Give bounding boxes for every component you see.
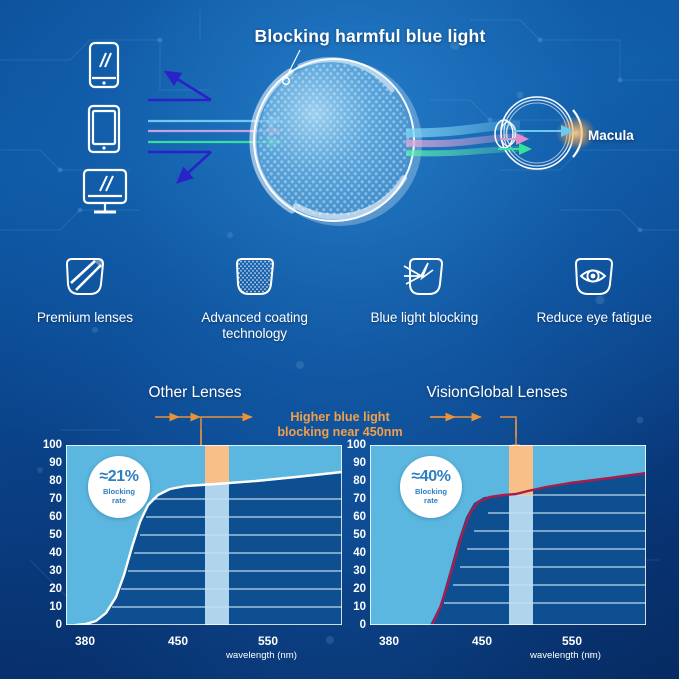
x-tick: 550 [549,634,595,648]
x-axis-caption: wavelength (nm) [530,650,601,661]
blocking-rate-badge-right: ≈40% Blocking rate [400,456,462,518]
y-tick: 60 [342,512,366,524]
feature-label: Advanced coating technology [201,310,307,342]
badge-caption-line2: rate [424,496,438,505]
coating-mesh-icon [232,252,278,302]
badge-caption-line2: rate [112,496,126,505]
x-tick: 380 [366,634,412,648]
feature-label-line2: technology [222,326,287,341]
y-tick: 90 [342,458,366,470]
x-tick: 450 [155,634,201,648]
feature-label: Blue light blocking [371,310,479,326]
y-tick: 100 [38,440,62,452]
x-tick: 450 [459,634,505,648]
feature-blue-light-blocking[interactable]: Blue light blocking [340,252,510,362]
premium-lens-icon [62,252,108,302]
features-row: Premium lenses Advanced coating technolo… [0,252,679,362]
blocking-rate-badge-left: ≈21% Blocking rate [88,456,150,518]
light-path-diagram [0,0,679,250]
y-tick: 30 [342,566,366,578]
y-tick: 20 [38,584,62,596]
y-tick: 100 [342,440,366,452]
y-tick: 80 [38,476,62,488]
badge-caption: Blocking rate [415,488,447,505]
lens-icon [253,50,422,226]
y-tick: 20 [342,584,366,596]
y-tick: 70 [38,494,62,506]
hero-scene: Blocking harmful blue light [0,0,679,250]
feature-advanced-coating[interactable]: Advanced coating technology [170,252,340,362]
y-tick: 70 [342,494,366,506]
y-tick: 10 [38,602,62,614]
feature-label: Premium lenses [37,310,133,326]
y-tick: 40 [38,548,62,560]
feature-premium-lenses[interactable]: Premium lenses [0,252,170,362]
badge-value: ≈21% [99,469,138,485]
macula-label: Macula [588,128,634,143]
badge-value: ≈40% [411,469,450,485]
chart-title-right: VisionGlobal Lenses [372,384,622,402]
badge-caption: Blocking rate [103,488,135,505]
blue-light-block-icon [401,252,447,302]
y-tick: 60 [38,512,62,524]
charts-section: Other Lenses VisionGlobal Lenses Higher … [0,372,679,679]
y-tick: 30 [38,566,62,578]
x-tick: 550 [245,634,291,648]
y-tick: 0 [342,620,366,632]
feature-label-line1: Advanced coating [201,310,307,325]
x-tick: 380 [62,634,108,648]
y-tick: 0 [38,620,62,632]
y-tick: 50 [38,530,62,542]
infographic-page: Blocking harmful blue light [0,0,679,679]
blocked-light-arrows [148,72,211,182]
y-tick: 40 [342,548,366,560]
y-tick: 80 [342,476,366,488]
feature-label: Reduce eye fatigue [536,310,651,326]
x-axis-caption: wavelength (nm) [226,650,297,661]
y-tick: 90 [38,458,62,470]
eye-fatigue-icon [571,252,617,302]
y-tick: 50 [342,530,366,542]
feature-reduce-eye-fatigue[interactable]: Reduce eye fatigue [509,252,679,362]
chart-title-left: Other Lenses [70,384,320,402]
y-tick: 10 [342,602,366,614]
